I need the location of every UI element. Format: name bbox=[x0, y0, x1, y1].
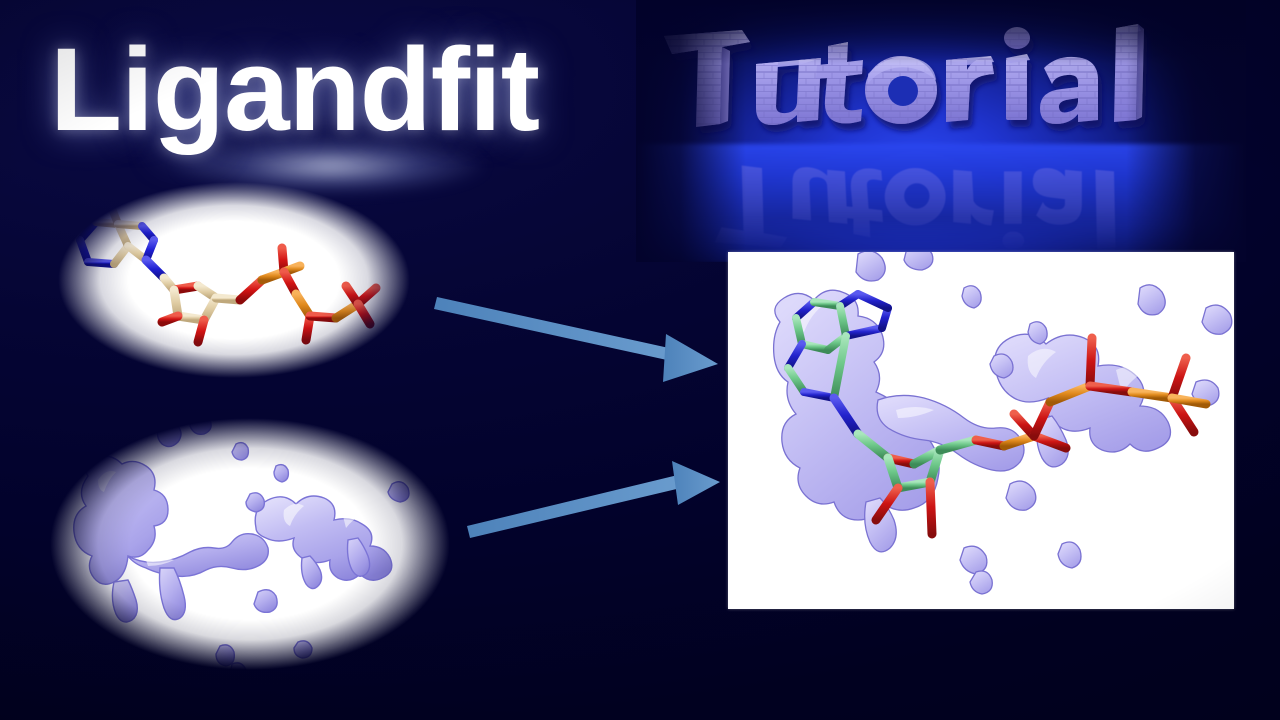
slide-canvas: Ligandfit bbox=[0, 0, 1280, 720]
background-vignette bbox=[0, 0, 1280, 720]
